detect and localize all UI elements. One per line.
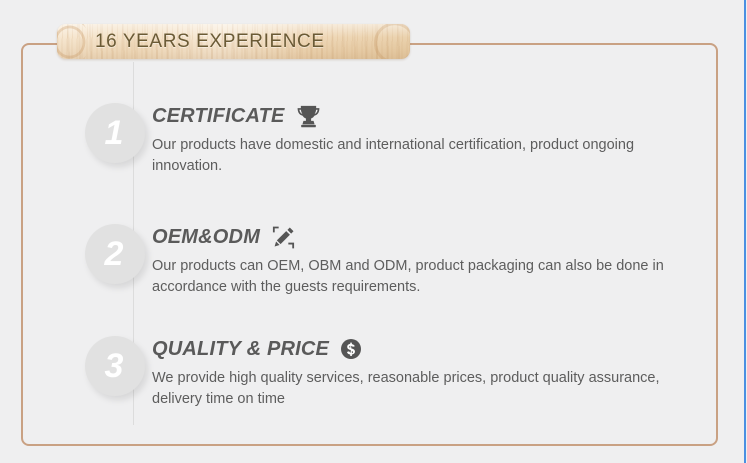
step-number-badge: 1 — [85, 103, 145, 163]
feature-heading: QUALITY & PRICE — [152, 336, 685, 362]
wood-banner: 16 YEARS EXPERIENCE — [57, 24, 410, 59]
step-number-badge: 3 — [85, 336, 145, 396]
right-edge-accent-line — [744, 0, 746, 463]
feature-title: QUALITY & PRICE — [152, 338, 329, 361]
feature-item: 1 CERTIFICATE Our products have domestic… — [85, 103, 685, 177]
pencil-design-icon — [270, 224, 297, 251]
step-number: 3 — [105, 349, 126, 383]
experience-panel: 16 YEARS EXPERIENCE 1 CERTIFICATE Our pr… — [0, 0, 747, 463]
feature-description: Our products have domestic and internati… — [152, 135, 672, 177]
step-number-badge: 2 — [85, 224, 145, 284]
dollar-coin-icon — [339, 337, 363, 361]
feature-item: 3 QUALITY & PRICE We provide high qualit… — [85, 336, 685, 410]
feature-title: CERTIFICATE — [152, 105, 285, 128]
feature-description: We provide high quality services, reason… — [152, 368, 672, 410]
feature-body: QUALITY & PRICE We provide high quality … — [152, 336, 685, 410]
banner-title: 16 YEARS EXPERIENCE — [95, 31, 325, 53]
feature-heading: CERTIFICATE — [152, 103, 685, 129]
feature-body: CERTIFICATE Our products have domestic a… — [152, 103, 685, 177]
step-number: 1 — [105, 116, 126, 150]
feature-heading: OEM&ODM — [152, 224, 685, 250]
feature-title: OEM&ODM — [152, 226, 260, 249]
step-number: 2 — [105, 237, 126, 271]
trophy-icon — [295, 103, 322, 130]
feature-item: 2 OEM&ODM Our product — [85, 224, 685, 298]
feature-description: Our products can OEM, OBM and ODM, produ… — [152, 256, 672, 298]
feature-body: OEM&ODM Our products can OEM, OBM and OD… — [152, 224, 685, 298]
